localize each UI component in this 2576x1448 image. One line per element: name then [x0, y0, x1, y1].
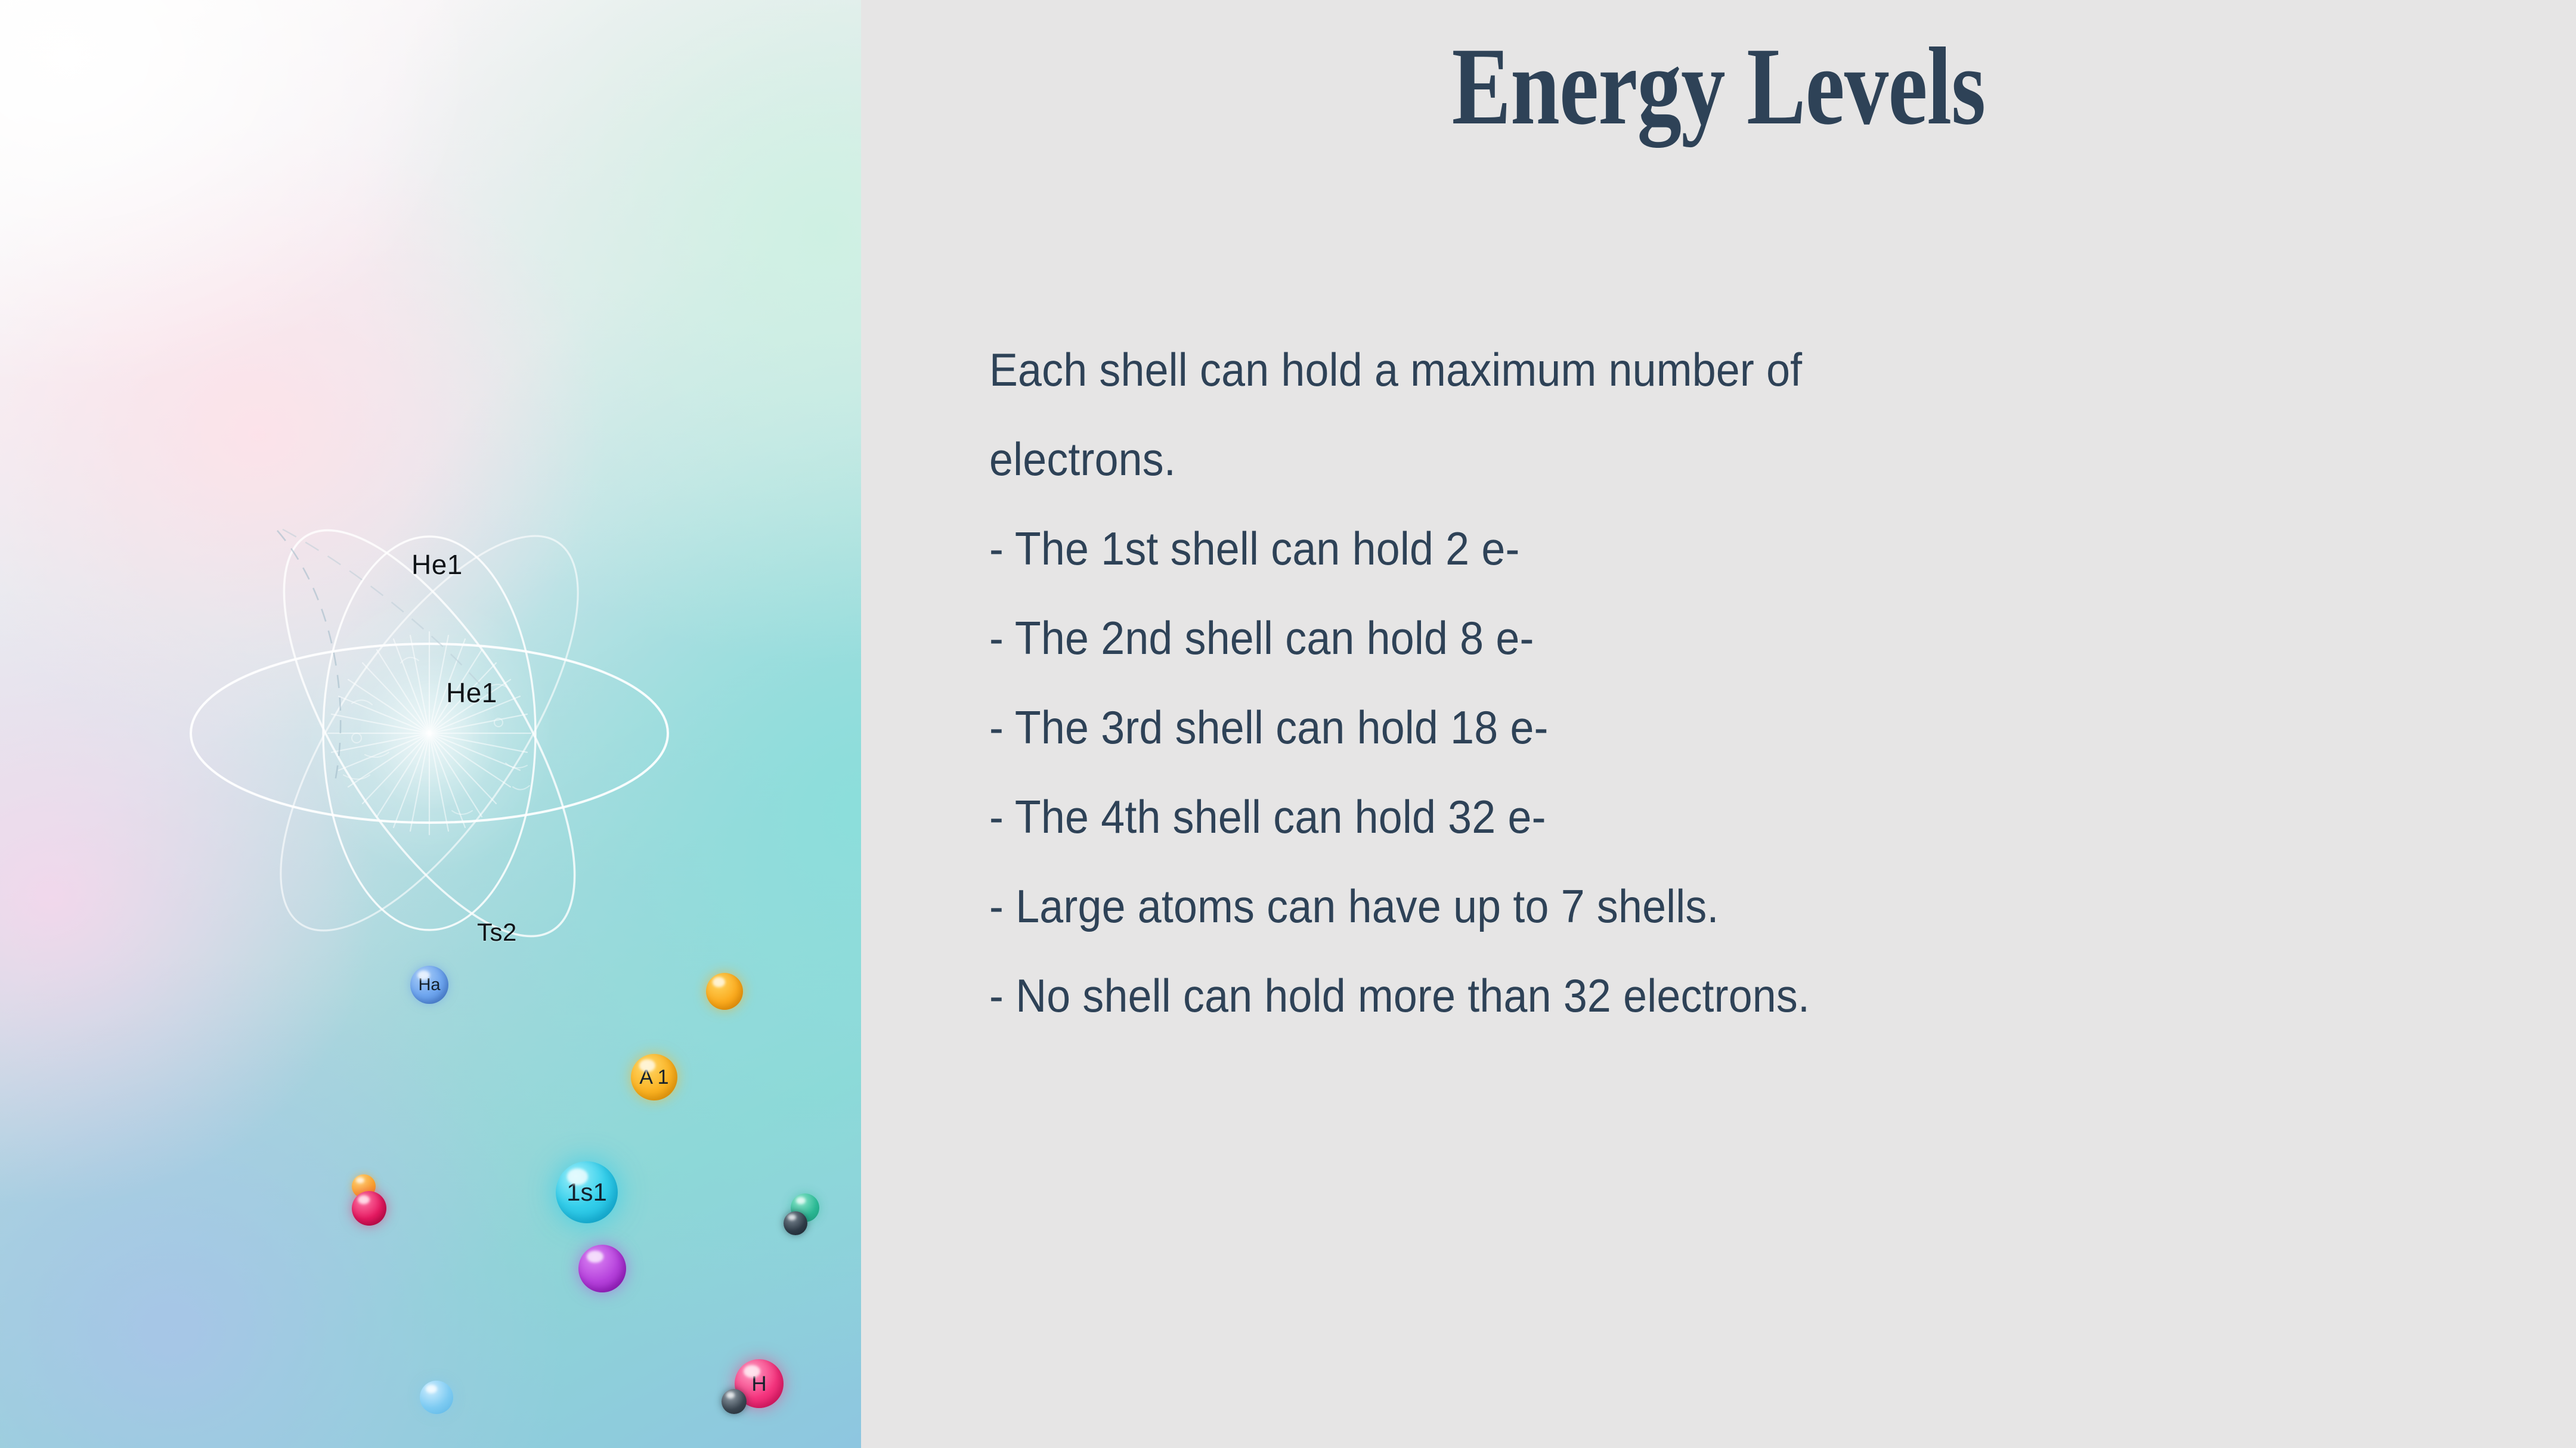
particle-purple[interactable]	[578, 1245, 626, 1292]
body-text: Each shell can hold a maximum number of …	[989, 325, 2323, 1040]
body-line: - No shell can hold more than 32 electro…	[989, 951, 2323, 1040]
body-line: - The 1st shell can hold 2 e-	[989, 504, 2323, 593]
atom-label-he-top: He1	[411, 548, 463, 581]
body-line: - The 4th shell can hold 32 e-	[989, 772, 2323, 861]
particle-orange-top[interactable]	[706, 973, 743, 1010]
atom-label-ts2: Ts2	[477, 918, 517, 947]
body-line: - The 2nd shell can hold 8 e-	[989, 593, 2323, 683]
particle-dark[interactable]	[784, 1211, 807, 1235]
slide-root: Ha A 1 1s1 H He1 He1 Ts2 Energy Levels E…	[0, 0, 2576, 1448]
body-line: - Large atoms can have up to 7 shells.	[989, 861, 2323, 951]
particle-a1[interactable]: A 1	[631, 1054, 677, 1100]
illustration-panel: Ha A 1 1s1 H He1 He1 Ts2	[0, 0, 861, 1448]
atom-diagram: Ha A 1 1s1 H	[155, 453, 704, 1001]
particle-nucleus-1s1[interactable]: 1s1	[556, 1161, 618, 1223]
particle-ha[interactable]: Ha	[410, 966, 448, 1004]
body-line: Each shell can hold a maximum number of	[989, 325, 2323, 414]
particle-lightblue[interactable]	[420, 1381, 453, 1414]
atom-orbits-svg	[155, 453, 704, 1001]
body-line: electrons.	[989, 414, 2323, 504]
atom-label-he-middle: He1	[446, 677, 497, 709]
particle-graphite[interactable]	[722, 1389, 747, 1414]
content-panel: Energy Levels Each shell can hold a maxi…	[861, 0, 2576, 1448]
page-title: Energy Levels	[1033, 31, 2405, 142]
particle-crimson[interactable]	[352, 1191, 386, 1226]
body-line: - The 3rd shell can hold 18 e-	[989, 683, 2323, 772]
